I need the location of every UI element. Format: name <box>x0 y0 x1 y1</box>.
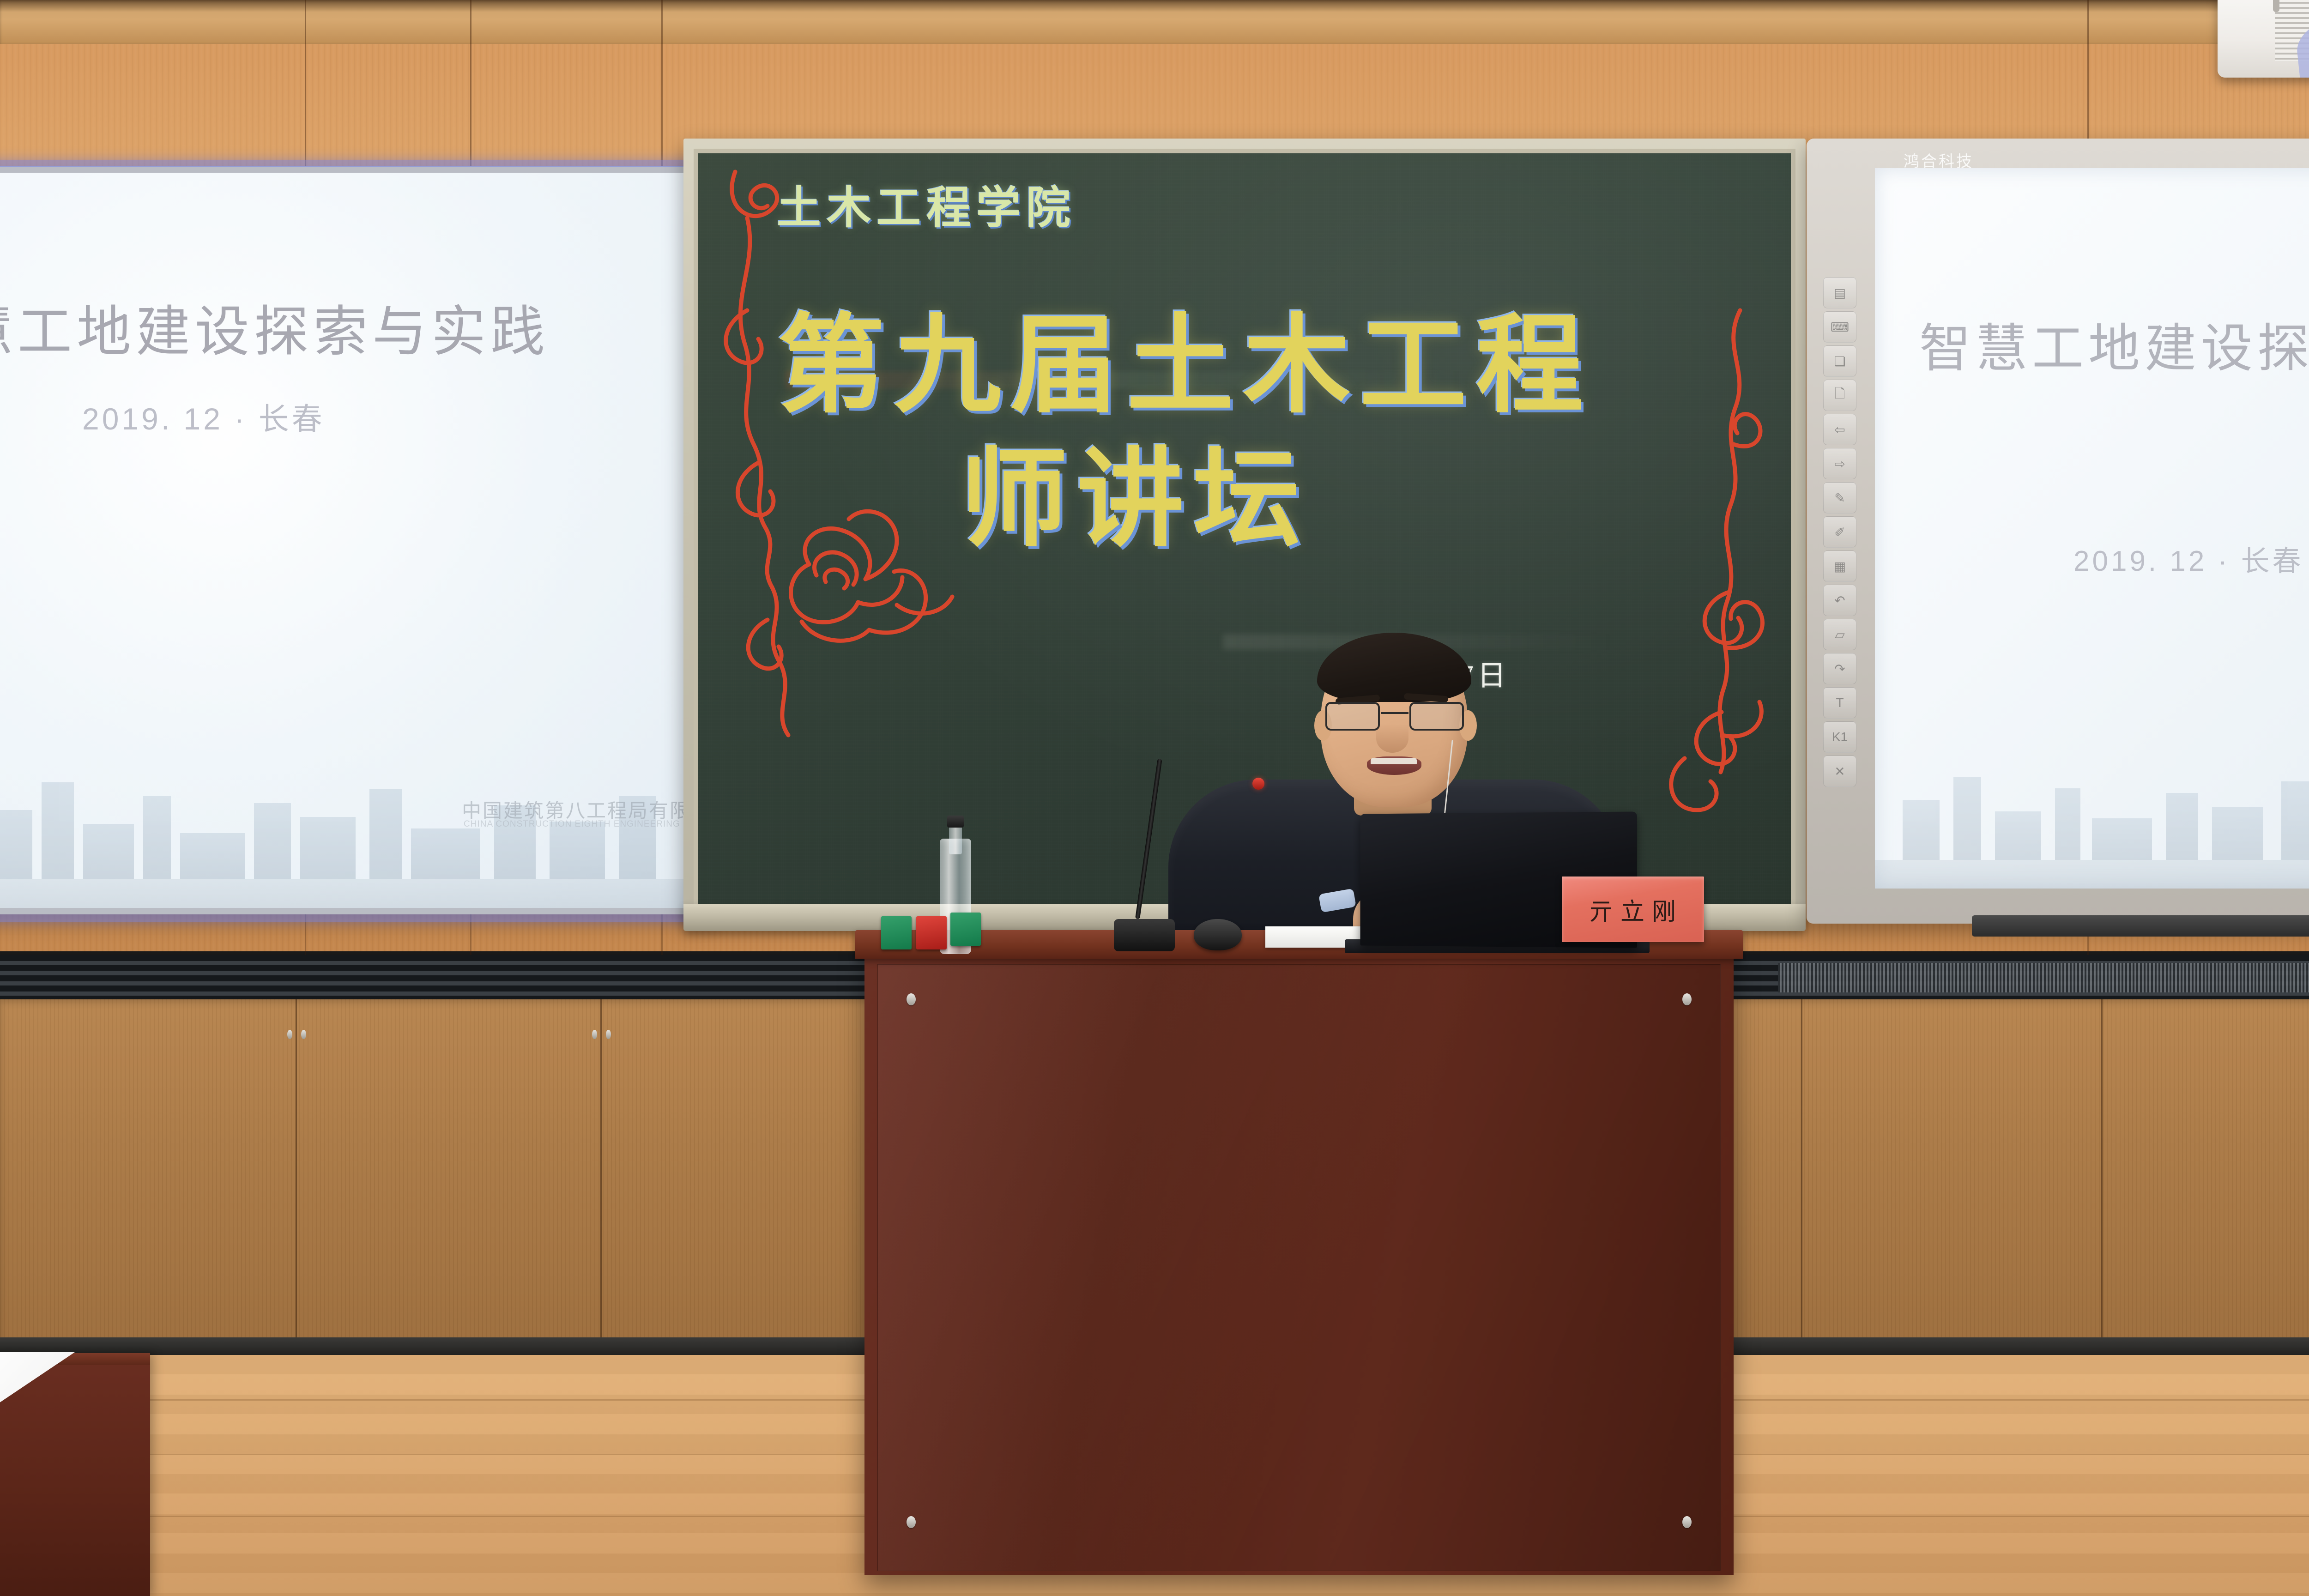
right-smartboard[interactable]: 鸿合科技 智慧工地建设探索 2019. 12 · 长春 ▤ ⌨ ❏ 🗋 ⇦ ⇨ <box>1807 139 2309 924</box>
stacked-pages-icon[interactable]: ▤ <box>1823 277 1856 308</box>
podium-screw <box>1682 993 1692 1005</box>
text-tool-icon[interactable]: T <box>1823 687 1856 719</box>
chalk-box-red[interactable] <box>916 916 947 949</box>
keyboard-icon[interactable]: ⌨ <box>1823 311 1856 343</box>
next-page-icon[interactable]: ⇨ <box>1823 448 1856 479</box>
corner-table <box>0 1353 150 1596</box>
lens-right <box>1409 702 1464 731</box>
podium-screw <box>1682 1516 1692 1528</box>
previous-page-icon[interactable]: ⇦ <box>1823 414 1856 445</box>
podium-screw <box>907 1516 916 1528</box>
chalkboard-title-line-1: 第九届土木工程 <box>778 278 1592 433</box>
pen-select-icon[interactable]: ✎ <box>1823 482 1856 514</box>
left-slide-watermark-en: CHINA CONSTRUCTION EIGHTH ENGINEERING DI… <box>464 819 711 829</box>
chalkboard-title-line-2: 师讲坛 <box>961 412 1310 567</box>
highlighter-icon[interactable]: ✐ <box>1823 516 1856 548</box>
undo-icon[interactable]: ↶ <box>1823 585 1856 616</box>
duplicate-page-icon[interactable]: ❏ <box>1823 345 1856 377</box>
palette-icon[interactable]: ▦ <box>1823 550 1856 582</box>
lecture-hall-photo: 慧工地建设探索与实践 2019. 12 · 长春 中国建筑第八工程局有限公司 C… <box>0 0 2309 1596</box>
redo-icon[interactable]: ↷ <box>1823 653 1856 684</box>
ceiling-shadow <box>0 0 2309 12</box>
chalkboard-heading: 土木工程学院 <box>777 172 1076 236</box>
left-projection-screen: 慧工地建设探索与实践 2019. 12 · 长春 中国建筑第八工程局有限公司 C… <box>0 166 711 914</box>
new-page-icon[interactable]: 🗋 <box>1823 380 1856 411</box>
name-placard: 亓立刚 <box>1562 877 1704 942</box>
glasses-bridge <box>1381 712 1408 714</box>
microphone-base <box>1114 919 1175 951</box>
cabinet-knob[interactable] <box>592 1030 597 1039</box>
air-conditioner <box>2218 0 2309 78</box>
right-slide-subtitle: 2019. 12 · 长春 <box>2073 538 2303 579</box>
microphone-head-light <box>1252 778 1264 790</box>
k1-key-icon[interactable]: K1 <box>1823 721 1856 753</box>
right-slide-title: 智慧工地建设探索 <box>1919 307 2309 381</box>
wall-vent-mesh <box>1778 963 2309 992</box>
smartboard-slide-skyline <box>1875 750 2309 889</box>
computer-mouse[interactable] <box>1194 919 1242 950</box>
nose <box>1376 724 1408 753</box>
cabinet-knob[interactable] <box>301 1030 306 1039</box>
cabinet-knob[interactable] <box>287 1030 292 1039</box>
hair <box>1317 633 1471 702</box>
left-slide-subtitle: 2019. 12 · 长春 <box>82 394 325 439</box>
cabinet-knob[interactable] <box>606 1030 611 1039</box>
podium <box>864 941 1734 1575</box>
bottle-cap[interactable] <box>947 816 964 828</box>
smartboard-toolbar[interactable]: ▤ ⌨ ❏ 🗋 ⇦ ⇨ ✎ ✐ ▦ ↶ ▱ ↷ T K1 ✕ <box>1823 277 1865 799</box>
chalk-box-green-right[interactable] <box>950 913 981 946</box>
chalk-box-green-left[interactable] <box>881 916 912 949</box>
mouth <box>1367 756 1421 775</box>
smartboard-bottom-bar <box>1972 915 2309 937</box>
close-icon[interactable]: ✕ <box>1823 756 1856 787</box>
microphone[interactable] <box>1107 757 1181 951</box>
eraser-icon[interactable]: ▱ <box>1823 619 1856 650</box>
lens-left <box>1325 702 1380 731</box>
podium-screw <box>907 993 916 1005</box>
ac-slot <box>2273 0 2279 12</box>
podium-front-panel <box>877 964 1721 1571</box>
left-slide-title: 慧工地建设探索与实践 <box>0 287 550 366</box>
smartboard-screen[interactable]: 智慧工地建设探索 2019. 12 · 长春 <box>1875 168 2309 889</box>
name-placard-text: 亓立刚 <box>1583 892 1683 927</box>
